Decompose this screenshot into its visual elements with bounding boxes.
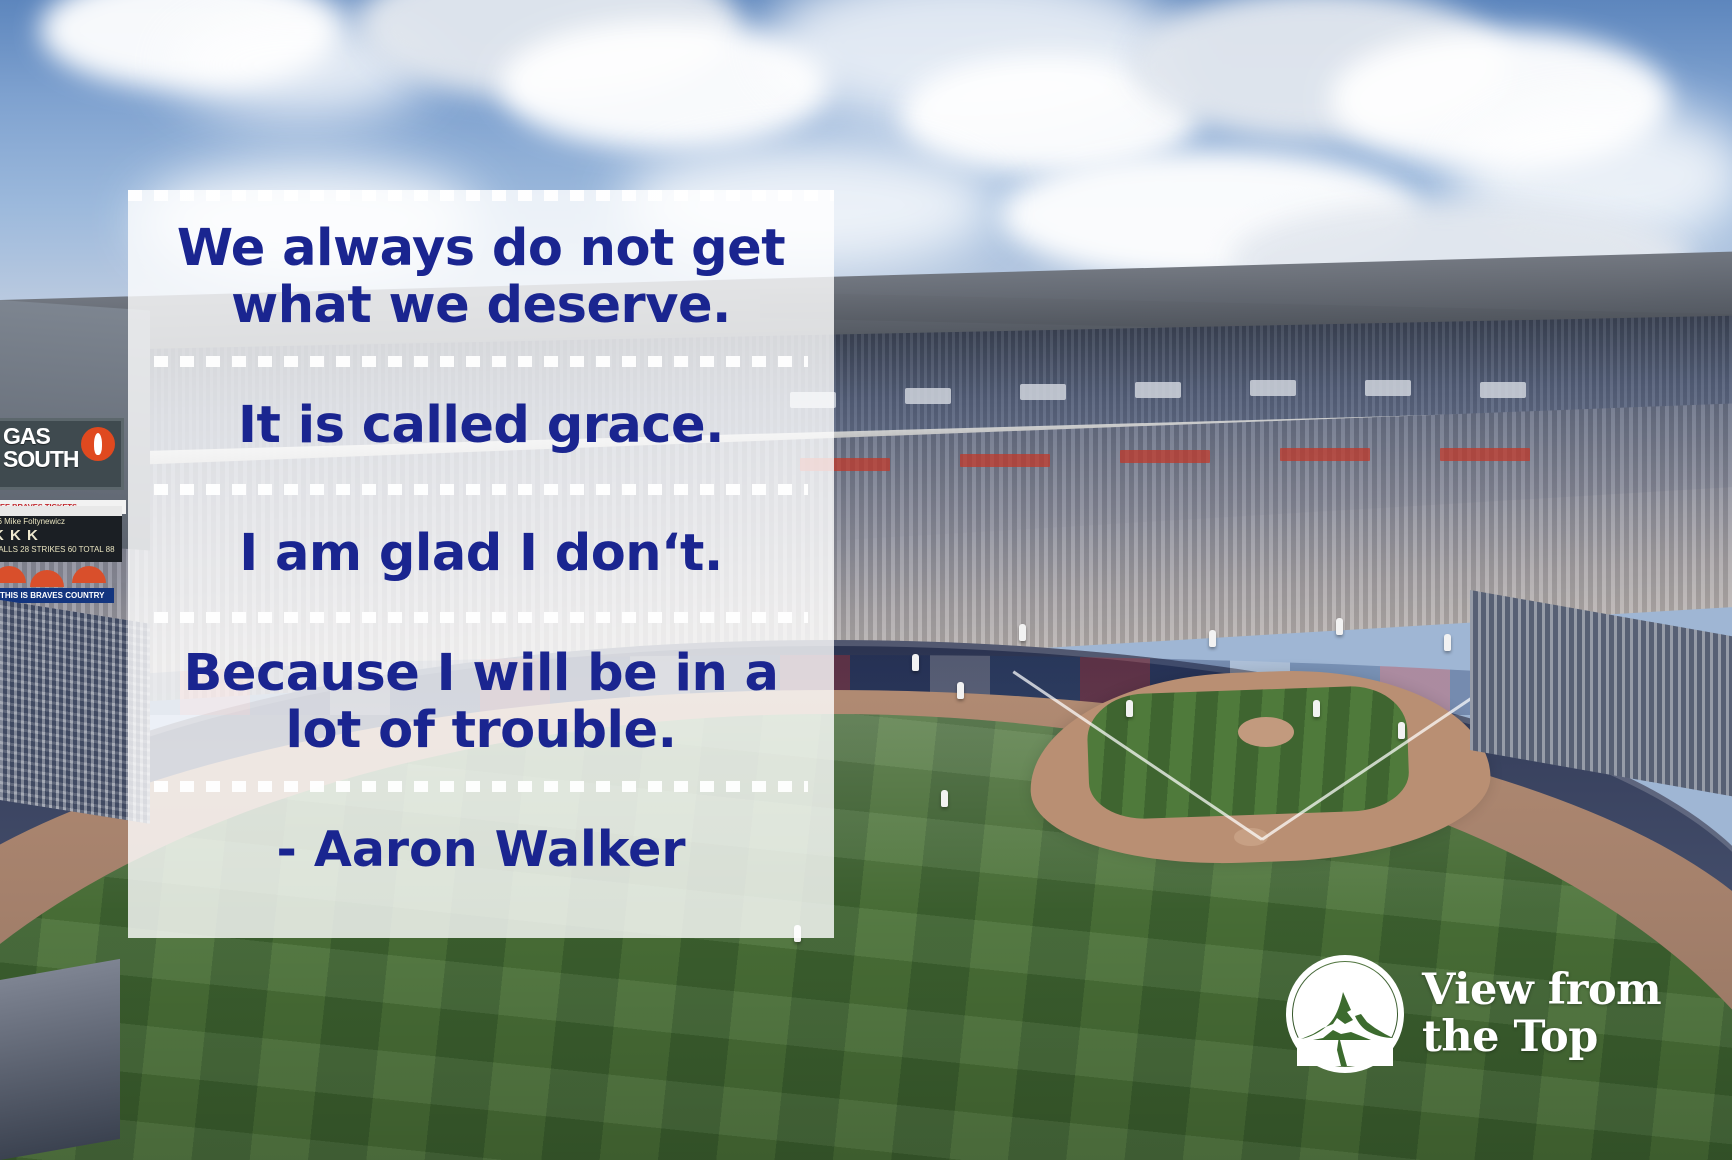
dashed-divider-1: [154, 356, 808, 367]
stadium-light-bank: [1020, 384, 1066, 400]
player: [912, 654, 919, 671]
quote-line: We always do not get: [154, 220, 808, 277]
braves-country-banner: THIS IS BRAVES COUNTRY: [0, 588, 114, 603]
quote-author: - Aaron Walker: [154, 822, 808, 878]
fascia-ad: [1120, 450, 1210, 463]
player: [1398, 722, 1405, 739]
brand-logo: View from the Top: [1286, 955, 1661, 1073]
scoreboard: 26 Mike Foltynewicz K K K BALLS 28 STRIK…: [0, 506, 122, 562]
dashed-divider-2: [154, 484, 808, 495]
pitchers-mound: [1238, 717, 1294, 747]
lower-bowl-structure: [0, 959, 120, 1160]
stadium-light-bank: [905, 388, 951, 404]
stadium-light-bank: [1135, 382, 1181, 398]
gas-south-sign: GAS SOUTH: [0, 418, 124, 490]
flame-icon: [81, 427, 115, 461]
fascia-ad: [1440, 448, 1530, 461]
scoreboard-player: 26 Mike Foltynewicz: [0, 516, 122, 527]
quote-line: what we deserve.: [154, 277, 808, 334]
brand-logo-line1: View from: [1422, 967, 1661, 1014]
quote-line: It is called grace.: [154, 397, 808, 454]
player: [1126, 700, 1133, 717]
player: [941, 790, 948, 807]
quote-block-3: I am glad I don‘t.: [154, 525, 808, 582]
quote-block-4: Because I will be in a lot of trouble.: [154, 645, 808, 759]
quote-line: I am glad I don‘t.: [154, 525, 808, 582]
quote-line: lot of trouble.: [154, 702, 808, 759]
mountain-peak-icon: [1286, 955, 1404, 1073]
player: [957, 682, 964, 699]
scoreboard-stats: BALLS 28 STRIKES 60 TOTAL 88: [0, 544, 122, 555]
brand-logo-text: View from the Top: [1422, 967, 1661, 1061]
player: [1019, 624, 1026, 641]
stadium-light-bank: [1480, 382, 1526, 398]
braves-country-text: THIS IS BRAVES COUNTRY: [0, 591, 104, 600]
quote-block-1: We always do not get what we deserve.: [154, 220, 808, 334]
dashed-divider-3: [154, 612, 808, 623]
player: [1209, 630, 1216, 647]
quote-block-2: It is called grace.: [154, 397, 808, 454]
player: [1336, 618, 1343, 635]
scoreboard-count: K K K: [0, 527, 122, 544]
quote-panel: We always do not get what we deserve. It…: [128, 190, 834, 938]
fascia-ad: [1280, 448, 1370, 461]
gas-south-sign-line2: SOUTH: [3, 446, 79, 472]
dashed-divider-4: [154, 781, 808, 792]
player: [1313, 700, 1320, 717]
brand-logo-line2: the Top: [1422, 1014, 1661, 1061]
quote-graphic: GAS SOUTH FREE BRAVES TICKETS 26 Mike Fo…: [0, 0, 1732, 1160]
stadium-light-bank: [1365, 380, 1411, 396]
fascia-ad: [960, 454, 1050, 467]
player: [1444, 634, 1451, 651]
stadium-light-bank: [1250, 380, 1296, 396]
quote-line: Because I will be in a: [154, 645, 808, 702]
